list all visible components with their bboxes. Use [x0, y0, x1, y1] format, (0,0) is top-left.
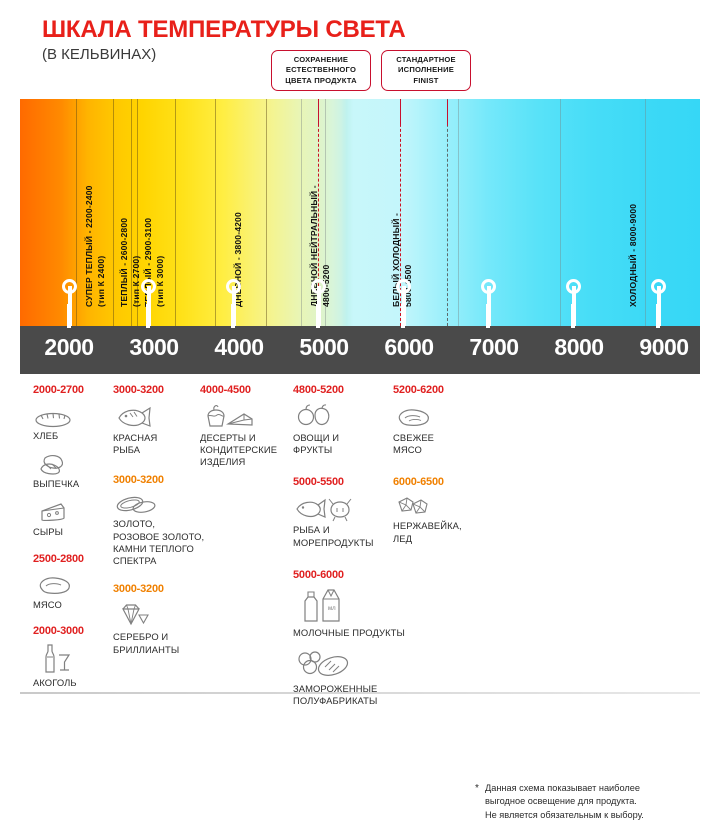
- legend-icons: мл: [293, 585, 393, 625]
- legend-label: ЗОЛОТО, РОЗОВОЕ ЗОЛОТО, КАМНИ ТЕПЛОГО СП…: [113, 518, 199, 567]
- gold-rings-icon: [113, 492, 161, 516]
- legend-range: 3000-3200: [113, 474, 199, 486]
- legend-group: 5000-5500 РЫБА И МОРЕПРОДУКТЫ: [293, 476, 393, 548]
- band-divider: [76, 99, 77, 326]
- callout-leader-line-1: [318, 100, 319, 126]
- scale-value-5000: 5000: [299, 334, 348, 361]
- pin-ring: [396, 279, 411, 294]
- pastry-icon: [33, 452, 73, 476]
- legend-range: 3000-3200: [113, 583, 199, 595]
- legend-icons: [33, 641, 111, 675]
- band-divider: [215, 99, 216, 326]
- legend-group: 6000-6500 НЕРЖАВЕЙКА, ЛЕД: [393, 476, 479, 544]
- band-label-super-warm: СУПЕР ТЕПЛЫЙ - 2200-2400: [84, 185, 95, 307]
- scale-value-9000: 9000: [639, 334, 688, 361]
- pin-ring: [141, 279, 156, 294]
- color-temperature-gradient-bar: СУПЕР ТЕПЛЫЙ - 2200-2400 (тип К 2400) ТЕ…: [20, 99, 700, 326]
- dessert-icon: [200, 402, 262, 430]
- legend-label: ДЕСЕРТЫ И КОНДИТЕРСКИЕ ИЗДЕЛИЯ: [200, 432, 292, 469]
- stainless-ice-icon: [393, 494, 439, 518]
- footnote-star: *: [475, 782, 479, 797]
- legend-label: ХЛЕБ: [33, 430, 111, 442]
- band-sublabel-warm-2700: (тип К 2700): [131, 256, 142, 307]
- legend-group: 5200-6200 СВЕЖЕЕ МЯСО: [393, 384, 479, 456]
- callout-leader-line-3: [447, 100, 448, 126]
- pin-ring: [651, 279, 666, 294]
- footnote-line-2: выгодное освещение для продукта.: [485, 795, 710, 808]
- callout-line-1: СОХРАНЕНИЕ: [275, 55, 367, 65]
- legend-label: СЕРЕБРО И БРИЛЛИАНТЫ: [113, 631, 199, 655]
- finist-marker-line-right: [447, 99, 448, 326]
- scale-value-3000: 3000: [129, 334, 178, 361]
- legend-range: 3000-3200: [113, 384, 199, 396]
- band-divider: [560, 99, 561, 326]
- legend-label: МОЛОЧНЫЕ ПРОДУКТЫ: [293, 627, 393, 639]
- diamond-icon: [113, 601, 155, 629]
- legend-icons: [113, 599, 199, 629]
- band-divider: [301, 99, 302, 326]
- pin-ring: [62, 279, 77, 294]
- legend-icons: [33, 400, 111, 428]
- pin-ring: [566, 279, 581, 294]
- legend-icons: [113, 490, 199, 516]
- legend-group: 3000-3200 ЗОЛОТО, РОЗОВОЕ ЗОЛОТО, КАМНИ …: [113, 474, 199, 567]
- svg-text:мл: мл: [328, 606, 336, 612]
- kelvin-scale-bar: 2000 3000 4000 5000 6000 7000 8000 9000: [20, 326, 700, 374]
- legend-footnote: * Данная схема показывает наиболее выгод…: [485, 782, 710, 822]
- fresh-meat-icon: [393, 404, 437, 430]
- infographic-root: ШКАЛА ТЕМПЕРАТУРЫ СВЕТА (В КЕЛЬВИНАХ) СО…: [0, 0, 720, 704]
- legend-group: 4000-4500 ДЕСЕРТЫ И КОНДИТЕРСКИЕ ИЗДЕЛИЯ: [200, 384, 292, 469]
- legend-range: 5000-6000: [293, 569, 393, 581]
- scale-value-8000: 8000: [554, 334, 603, 361]
- callout-line-2: ЕСТЕСТВЕННОГО: [275, 65, 367, 75]
- legend-group: 3000-3200 СЕРЕБРО И БРИЛЛИАНТЫ: [113, 583, 199, 655]
- scale-value-4000: 4000: [214, 334, 263, 361]
- callout-line-1: СТАНДАРТНОЕ: [385, 55, 467, 65]
- footer-divider: [20, 692, 700, 694]
- legend-group: 2500-2800 МЯСО: [33, 553, 111, 611]
- legend-group: 3000-3200 КРАСНАЯ РЫБА: [113, 384, 199, 456]
- legend-range: 4800-5200: [293, 384, 393, 396]
- alcohol-icon: [33, 641, 75, 675]
- legend-column-4: 4800-5200 ОВОЩИ И ФРУКТЫ 5000-5500 РЫБА …: [293, 384, 393, 717]
- fish-seafood-icon: [293, 494, 355, 522]
- legend-range: 2500-2800: [33, 553, 111, 565]
- legend-group: 2000-2700 ХЛЕБ ВЫПЕЧКА СЫРЫ: [33, 384, 111, 539]
- legend-column-2: 3000-3200 КРАСНАЯ РЫБА 3000-3200 ЗОЛОТО,…: [113, 384, 199, 665]
- legend-label: ВЫПЕЧКА: [33, 478, 111, 490]
- legend-column-5: 5200-6200 СВЕЖЕЕ МЯСО 6000-6500 НЕРЖАВЕЙ…: [393, 384, 479, 554]
- frozen-food-icon: [293, 649, 353, 681]
- scale-value-2000: 2000: [44, 334, 93, 361]
- pin-ring: [311, 279, 326, 294]
- band-divider: [458, 99, 459, 326]
- callout-line-3: FINIST: [385, 76, 467, 86]
- finist-standard-callout: СТАНДАРТНОЕ ИСПОЛНЕНИЕ FINIST: [381, 50, 471, 91]
- legend-label: МЯСО: [33, 599, 111, 611]
- legend-group: 4800-5200 ОВОЩИ И ФРУКТЫ: [293, 384, 393, 456]
- band-sublabel-super-warm: (тип К 2400): [96, 256, 107, 307]
- legend-icons: [200, 400, 292, 430]
- product-legend: 2000-2700 ХЛЕБ ВЫПЕЧКА СЫРЫ 2500-2800: [0, 384, 720, 704]
- legend-label: РЫБА И МОРЕПРОДУКТЫ: [293, 524, 393, 548]
- legend-range: 4000-4500: [200, 384, 292, 396]
- vegetables-fruits-icon: [293, 402, 339, 430]
- legend-icons: [293, 400, 393, 430]
- legend-label: КРАСНАЯ РЫБА: [113, 432, 199, 456]
- legend-icons: [293, 492, 393, 522]
- legend-column-3: 4000-4500 ДЕСЕРТЫ И КОНДИТЕРСКИЕ ИЗДЕЛИЯ: [200, 384, 292, 478]
- band-label-cold: ХОЛОДНЫЙ - 8000-9000: [628, 204, 639, 307]
- legend-label: СЫРЫ: [33, 526, 111, 538]
- callout-leader-line-2: [400, 100, 401, 126]
- legend-icons: [113, 400, 199, 430]
- callout-line-2: ИСПОЛНЕНИЕ: [385, 65, 467, 75]
- callout-line-3: ЦВЕТА ПРОДУКТА: [275, 76, 367, 86]
- page-subtitle: (В КЕЛЬВИНАХ): [42, 46, 156, 63]
- legend-label: ОВОЩИ И ФРУКТЫ: [293, 432, 393, 456]
- band-label-warm-2700: ТЕПЛЫЙ - 2600-2800: [119, 218, 130, 307]
- legend-label: СВЕЖЕЕ МЯСО: [393, 432, 479, 456]
- legend-label: АКОГОЛЬ: [33, 677, 111, 689]
- natural-color-callout: СОХРАНЕНИЕ ЕСТЕСТВЕННОГО ЦВЕТА ПРОДУКТА: [271, 50, 371, 91]
- band-divider: [266, 99, 267, 326]
- legend-range: 2000-3000: [33, 625, 111, 637]
- cheese-icon: [33, 500, 73, 524]
- legend-range: 2000-2700: [33, 384, 111, 396]
- red-fish-icon: [113, 402, 155, 430]
- page-title: ШКАЛА ТЕМПЕРАТУРЫ СВЕТА: [42, 16, 406, 44]
- band-divider: [113, 99, 114, 326]
- meat-icon: [33, 573, 77, 597]
- legend-icons: [293, 647, 393, 681]
- legend-icons: [393, 492, 479, 518]
- legend-icons: [393, 400, 479, 430]
- scale-value-7000: 7000: [469, 334, 518, 361]
- legend-label: НЕРЖАВЕЙКА, ЛЕД: [393, 520, 479, 544]
- band-sublabel-warm-3000: (тип К 3000): [155, 256, 166, 307]
- pin-ring: [226, 279, 241, 294]
- legend-icons: [33, 569, 111, 597]
- legend-group: 5000-6000 мл МОЛОЧНЫЕ ПРОДУКТЫ ЗАМОРОЖЕН…: [293, 569, 393, 708]
- footnote-line-3: Не является обязательным к выбору.: [485, 809, 710, 822]
- dairy-icon: мл: [293, 585, 353, 625]
- band-divider: [175, 99, 176, 326]
- legend-icons: [33, 448, 111, 476]
- legend-range: 6000-6500: [393, 476, 479, 488]
- bread-icon: [33, 408, 73, 428]
- legend-icons: [33, 496, 111, 524]
- band-divider: [645, 99, 646, 326]
- legend-group: 2000-3000 АКОГОЛЬ: [33, 625, 111, 689]
- scale-value-6000: 6000: [384, 334, 433, 361]
- legend-column-1: 2000-2700 ХЛЕБ ВЫПЕЧКА СЫРЫ 2500-2800: [33, 384, 111, 698]
- legend-range: 5000-5500: [293, 476, 393, 488]
- legend-range: 5200-6200: [393, 384, 479, 396]
- pin-ring: [481, 279, 496, 294]
- footnote-line-1: Данная схема показывает наиболее: [485, 782, 710, 795]
